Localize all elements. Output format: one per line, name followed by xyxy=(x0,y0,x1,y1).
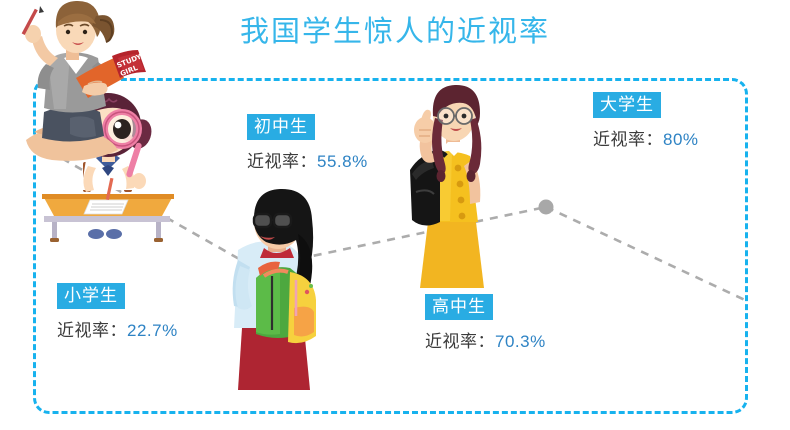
rate-college-student: 近视率：80% xyxy=(593,125,699,150)
label-college-student: 大学生 近视率：80% xyxy=(593,92,699,150)
badge-college-student: 大学生 xyxy=(593,92,661,118)
rate-value-junior: 55.8% xyxy=(317,152,368,171)
rate-prefix-junior: 近视率： xyxy=(247,152,317,171)
rate-value-senior: 70.3% xyxy=(495,332,546,351)
badge-junior-student: 初中生 xyxy=(247,114,315,140)
rate-prefix-primary: 近视率： xyxy=(57,321,127,340)
badge-senior-student: 高中生 xyxy=(425,294,493,320)
rate-prefix-college: 近视率： xyxy=(593,130,663,149)
rate-junior-student: 近视率：55.8% xyxy=(247,147,368,172)
rate-value-college: 80% xyxy=(663,130,699,149)
rate-senior-student: 近视率：70.3% xyxy=(425,327,546,352)
college-student-illustration: STUDY GIRL xyxy=(0,0,160,185)
rate-prefix-senior: 近视率： xyxy=(425,332,495,351)
rate-primary-student: 近视率：22.7% xyxy=(57,316,178,341)
label-primary-student: 小学生 近视率：22.7% xyxy=(57,283,178,341)
connector-senior-college xyxy=(546,207,745,300)
junior-student-illustration xyxy=(212,188,342,393)
rate-value-primary: 22.7% xyxy=(127,321,178,340)
node-dot-senior xyxy=(539,200,554,215)
infographic-canvas: 我国学生惊人的近视率 xyxy=(0,0,790,430)
senior-student-illustration xyxy=(388,82,513,290)
label-senior-student: 高中生 近视率：70.3% xyxy=(425,294,546,352)
badge-primary-student: 小学生 xyxy=(57,283,125,309)
label-junior-student: 初中生 近视率：55.8% xyxy=(247,114,368,172)
